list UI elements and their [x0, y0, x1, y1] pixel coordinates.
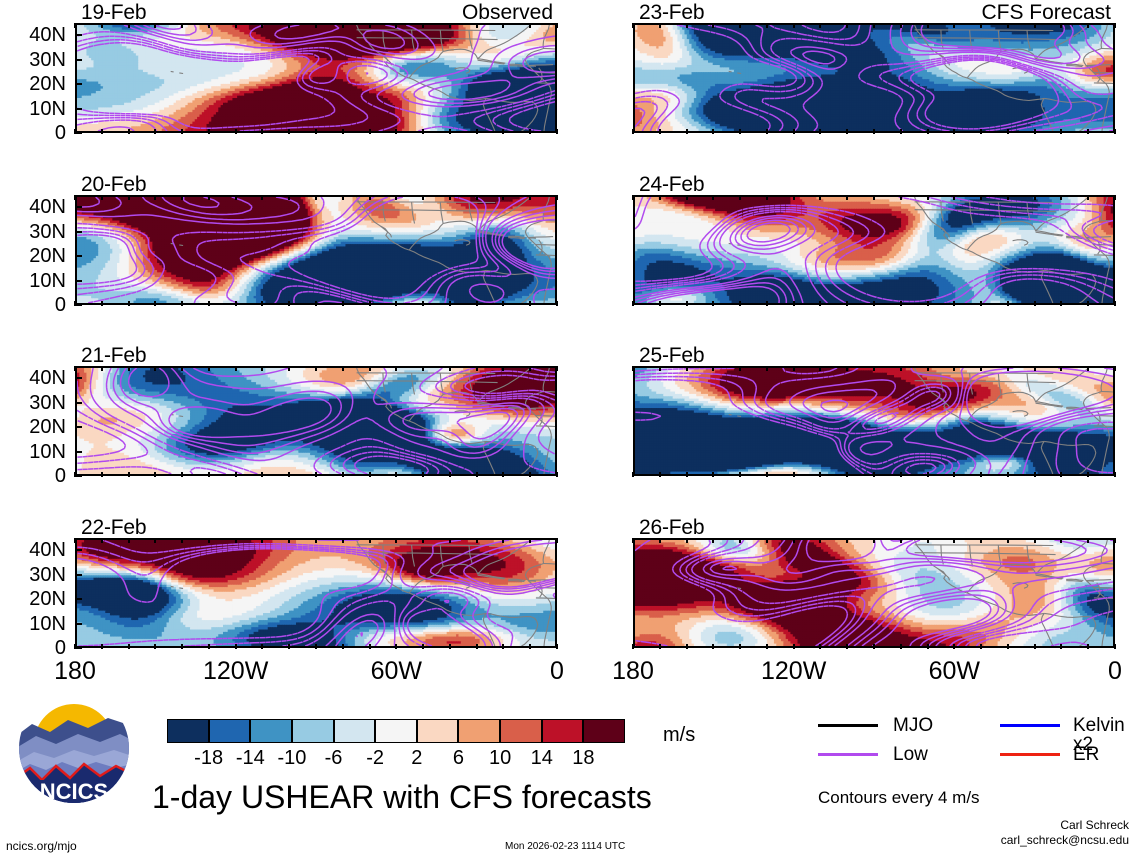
x-axis-tick-mark: [208, 195, 210, 200]
x-axis-tick-mark: [953, 195, 955, 200]
colorbar-segment: [583, 719, 625, 743]
x-axis-tick-mark: [873, 644, 875, 649]
x-axis-tick-mark: [261, 366, 263, 371]
x-axis-tick-mark: [1114, 538, 1116, 543]
x-axis-tick-mark: [261, 23, 263, 28]
x-axis-tick-mark: [980, 129, 982, 134]
x-axis-tick-mark: [476, 472, 478, 477]
author-name: Carl Schreck: [849, 818, 1129, 833]
footer-timestamp: Mon 2026-02-23 1114 UTC: [505, 842, 625, 852]
colorbar-segment: [417, 719, 459, 743]
colorbar-segment: [334, 719, 376, 743]
x-axis-tick-mark: [953, 644, 955, 649]
x-axis-tick-mark: [846, 472, 848, 477]
x-axis-tick-mark: [261, 538, 263, 543]
x-axis-tick-mark: [659, 23, 661, 28]
x-axis-tick-mark: [846, 23, 848, 28]
x-axis-tick-mark: [873, 301, 875, 306]
legend-line-swatch: [1000, 724, 1060, 727]
x-axis-tick-mark: [766, 538, 768, 543]
legend-line-swatch: [818, 724, 878, 727]
x-axis-tick-mark: [712, 23, 714, 28]
x-axis-tick-mark: [476, 644, 478, 649]
x-axis-tick-mark: [235, 472, 237, 477]
x-axis-tick-mark: [766, 472, 768, 477]
x-axis-tick-mark: [659, 472, 661, 477]
x-axis-tick-mark: [556, 301, 558, 306]
x-axis-tick-mark: [1060, 644, 1062, 649]
x-axis-tick-mark: [154, 195, 156, 200]
x-axis-tick-mark: [927, 366, 929, 371]
x-axis-tick-mark: [128, 538, 130, 543]
x-axis-tick-mark: [766, 644, 768, 649]
x-axis-tick-mark: [846, 301, 848, 306]
colorbar-tick-label: -10: [270, 748, 314, 768]
x-axis-tick-mark: [980, 23, 982, 28]
x-axis-tick-mark: [686, 23, 688, 28]
y-axis-tick-mark: [75, 108, 82, 110]
x-axis-tick-mark: [900, 129, 902, 134]
x-axis-tick-mark: [502, 538, 504, 543]
x-axis-tick-mark: [101, 366, 103, 371]
x-axis-tick-mark: [502, 23, 504, 28]
x-axis-tick-mark: [74, 129, 76, 134]
x-axis-tick-mark: [502, 195, 504, 200]
x-axis-tick-mark: [793, 129, 795, 134]
x-axis-tick-label: 120W: [176, 659, 296, 684]
x-axis-tick-mark: [927, 644, 929, 649]
colorbar-tick-label: -14: [228, 748, 272, 768]
x-axis-tick-mark: [395, 366, 397, 371]
x-axis-tick-mark: [1034, 472, 1036, 477]
y-axis-tick-mark: [75, 377, 82, 379]
colorbar-tick-label: -6: [312, 748, 356, 768]
x-axis-tick-mark: [953, 472, 955, 477]
x-axis-tick-mark: [846, 644, 848, 649]
x-axis-tick-mark: [101, 23, 103, 28]
x-axis-tick-mark: [1114, 472, 1116, 477]
colorbar-tick-label: 6: [436, 748, 480, 768]
x-axis-tick-mark: [873, 129, 875, 134]
x-axis-tick-mark: [900, 301, 902, 306]
x-axis-tick-mark: [369, 195, 371, 200]
x-axis-tick-mark: [101, 129, 103, 134]
x-axis-tick-mark: [1034, 538, 1036, 543]
colorbar-segment: [292, 719, 334, 743]
x-axis-tick-mark: [74, 472, 76, 477]
x-axis-tick-mark: [369, 644, 371, 649]
x-axis-tick-mark: [686, 301, 688, 306]
x-axis-tick-mark: [980, 366, 982, 371]
y-axis-tick-mark: [75, 549, 82, 551]
x-axis-tick-mark: [793, 644, 795, 649]
x-axis-tick-mark: [953, 301, 955, 306]
x-axis-tick-mark: [529, 195, 531, 200]
x-axis-tick-mark: [873, 23, 875, 28]
x-axis-tick-mark: [900, 366, 902, 371]
x-axis-tick-mark: [422, 366, 424, 371]
column-header-label: Observed: [75, 2, 553, 23]
x-axis-tick-mark: [529, 644, 531, 649]
x-axis-tick-mark: [1007, 472, 1009, 477]
map-panel: [75, 23, 557, 133]
x-axis-tick-mark: [819, 23, 821, 28]
x-axis-tick-mark: [953, 366, 955, 371]
x-axis-tick-mark: [659, 644, 661, 649]
x-axis-tick-mark: [1087, 538, 1089, 543]
x-axis-tick-mark: [712, 301, 714, 306]
x-axis-tick-mark: [1087, 129, 1089, 134]
ncics-logo-text: NCICS: [40, 779, 108, 804]
legend-line-swatch: [1000, 753, 1060, 756]
x-axis-tick-mark: [1007, 23, 1009, 28]
y-axis-tick-mark: [75, 304, 82, 306]
y-axis-tick-label: 40N: [0, 25, 66, 45]
x-axis-tick-mark: [288, 23, 290, 28]
x-axis-tick-mark: [846, 195, 848, 200]
x-axis-tick-mark: [74, 301, 76, 306]
map-panel: [633, 538, 1115, 648]
x-axis-tick-mark: [101, 195, 103, 200]
x-axis-tick-mark: [288, 301, 290, 306]
x-axis-tick-mark: [900, 538, 902, 543]
x-axis-tick-mark: [556, 472, 558, 477]
colorbar-units-label: m/s: [663, 725, 695, 745]
x-axis-tick-mark: [529, 472, 531, 477]
x-axis-tick-mark: [980, 538, 982, 543]
x-axis-tick-label: 120W: [734, 659, 854, 684]
y-axis-tick-label: 10N: [0, 271, 66, 291]
x-axis-tick-mark: [686, 195, 688, 200]
x-axis-tick-mark: [980, 472, 982, 477]
x-axis-tick-mark: [181, 129, 183, 134]
x-axis-tick-mark: [529, 129, 531, 134]
x-axis-tick-mark: [476, 366, 478, 371]
x-axis-tick-mark: [395, 644, 397, 649]
x-axis-tick-mark: [766, 366, 768, 371]
x-axis-tick-mark: [235, 195, 237, 200]
panel-date-label: 26-Feb: [639, 517, 704, 538]
x-axis-tick-mark: [766, 129, 768, 134]
y-axis-tick-mark: [75, 475, 82, 477]
x-axis-tick-mark: [369, 472, 371, 477]
x-axis-tick-mark: [846, 366, 848, 371]
x-axis-tick-mark: [261, 644, 263, 649]
x-axis-tick-mark: [686, 366, 688, 371]
x-axis-tick-mark: [1007, 538, 1009, 543]
y-axis-tick-mark: [75, 598, 82, 600]
x-axis-tick-mark: [449, 538, 451, 543]
x-axis-tick-mark: [502, 129, 504, 134]
x-axis-tick-mark: [953, 23, 955, 28]
x-axis-tick-mark: [154, 301, 156, 306]
x-axis-tick-mark: [927, 538, 929, 543]
x-axis-tick-mark: [154, 644, 156, 649]
x-axis-tick-mark: [422, 538, 424, 543]
x-axis-tick-mark: [315, 301, 317, 306]
x-axis-tick-mark: [1060, 366, 1062, 371]
x-axis-tick-mark: [235, 129, 237, 134]
x-axis-tick-mark: [739, 23, 741, 28]
x-axis-tick-mark: [927, 23, 929, 28]
x-axis-tick-mark: [1007, 301, 1009, 306]
y-axis-tick-mark: [75, 34, 82, 36]
y-axis-tick-label: 30N: [0, 565, 66, 585]
x-axis-tick-mark: [235, 644, 237, 649]
x-axis-tick-mark: [181, 23, 183, 28]
x-axis-tick-mark: [739, 129, 741, 134]
x-axis-tick-mark: [659, 366, 661, 371]
x-axis-tick-mark: [288, 195, 290, 200]
x-axis-tick-mark: [342, 195, 344, 200]
colorbar-tick-label: 18: [561, 748, 605, 768]
map-panel: [75, 195, 557, 305]
x-axis-tick-mark: [1007, 195, 1009, 200]
x-axis-tick-mark: [288, 129, 290, 134]
y-axis-tick-label: 10N: [0, 614, 66, 634]
x-axis-tick-label: 60W: [894, 659, 1014, 684]
y-axis-tick-label: 10N: [0, 442, 66, 462]
ncics-logo: NCICS: [16, 692, 132, 804]
x-axis-tick-mark: [659, 538, 661, 543]
x-axis-tick-mark: [74, 644, 76, 649]
x-axis-tick-mark: [1114, 644, 1116, 649]
author-email[interactable]: carl_schreck@ncsu.edu: [849, 833, 1129, 848]
legend-label: ER: [1073, 745, 1099, 764]
x-axis-tick-mark: [529, 301, 531, 306]
author-credit: Carl Schreck carl_schreck@ncsu.edu: [849, 818, 1129, 848]
y-axis-tick-label: 40N: [0, 197, 66, 217]
x-axis-tick-label: 180: [15, 659, 135, 684]
x-axis-tick-mark: [342, 472, 344, 477]
x-axis-tick-mark: [208, 366, 210, 371]
x-axis-tick-mark: [1034, 366, 1036, 371]
x-axis-tick-mark: [1114, 23, 1116, 28]
x-axis-tick-mark: [502, 644, 504, 649]
x-axis-tick-mark: [819, 195, 821, 200]
x-axis-tick-mark: [476, 538, 478, 543]
panel-date-label: 24-Feb: [639, 174, 704, 195]
x-axis-tick-mark: [181, 538, 183, 543]
map-panel: [75, 366, 557, 476]
x-axis-tick-mark: [315, 366, 317, 371]
x-axis-tick-mark: [1087, 301, 1089, 306]
x-axis-tick-mark: [529, 366, 531, 371]
x-axis-tick-mark: [766, 301, 768, 306]
x-axis-tick-mark: [261, 195, 263, 200]
x-axis-tick-mark: [154, 23, 156, 28]
x-axis-tick-mark: [1114, 366, 1116, 371]
x-axis-tick-mark: [369, 23, 371, 28]
x-axis-tick-mark: [1007, 129, 1009, 134]
x-axis-tick-mark: [476, 23, 478, 28]
x-axis-tick-mark: [632, 644, 634, 649]
x-axis-tick-mark: [793, 301, 795, 306]
x-axis-tick-mark: [739, 644, 741, 649]
x-axis-tick-mark: [181, 301, 183, 306]
x-axis-tick-mark: [1060, 23, 1062, 28]
x-axis-tick-mark: [369, 129, 371, 134]
x-axis-tick-mark: [659, 195, 661, 200]
x-axis-tick-mark: [793, 472, 795, 477]
x-axis-tick-mark: [900, 472, 902, 477]
x-axis-tick-mark: [288, 366, 290, 371]
x-axis-tick-label: 0: [1055, 659, 1135, 684]
x-axis-tick-label: 60W: [336, 659, 456, 684]
x-axis-tick-mark: [712, 366, 714, 371]
colorbar-segment: [250, 719, 292, 743]
x-axis-tick-mark: [632, 195, 634, 200]
x-axis-tick-mark: [261, 129, 263, 134]
x-axis-tick-mark: [819, 644, 821, 649]
x-axis-tick-mark: [556, 366, 558, 371]
x-axis-tick-mark: [422, 23, 424, 28]
y-axis-tick-mark: [75, 426, 82, 428]
x-axis-tick-mark: [395, 23, 397, 28]
x-axis-tick-mark: [819, 472, 821, 477]
x-axis-tick-mark: [369, 366, 371, 371]
x-axis-tick-mark: [502, 472, 504, 477]
x-axis-tick-mark: [395, 301, 397, 306]
x-axis-tick-mark: [1034, 129, 1036, 134]
x-axis-tick-mark: [712, 129, 714, 134]
x-axis-tick-mark: [686, 472, 688, 477]
x-axis-tick-mark: [556, 23, 558, 28]
x-axis-tick-mark: [235, 366, 237, 371]
x-axis-tick-mark: [128, 301, 130, 306]
colorbar-tick-label: -18: [187, 748, 231, 768]
x-axis-tick-mark: [632, 129, 634, 134]
x-axis-tick-mark: [128, 23, 130, 28]
x-axis-tick-mark: [315, 472, 317, 477]
x-axis-tick-mark: [101, 644, 103, 649]
x-axis-tick-mark: [1114, 195, 1116, 200]
y-axis-tick-label: 20N: [0, 589, 66, 609]
x-axis-tick-mark: [953, 538, 955, 543]
y-axis-tick-mark: [75, 574, 82, 576]
x-axis-tick-mark: [128, 366, 130, 371]
x-axis-tick-mark: [793, 195, 795, 200]
map-panel: [633, 195, 1115, 305]
x-axis-tick-mark: [449, 195, 451, 200]
x-axis-tick-mark: [208, 644, 210, 649]
x-axis-tick-mark: [181, 472, 183, 477]
x-axis-tick-mark: [739, 195, 741, 200]
x-axis-tick-mark: [422, 644, 424, 649]
panel-date-label: 25-Feb: [639, 345, 704, 366]
x-axis-tick-mark: [208, 129, 210, 134]
y-axis-tick-mark: [75, 451, 82, 453]
x-axis-tick-mark: [502, 366, 504, 371]
colorbar-segment: [167, 719, 209, 743]
x-axis-tick-mark: [712, 195, 714, 200]
x-axis-tick-mark: [235, 301, 237, 306]
x-axis-tick-mark: [261, 472, 263, 477]
x-axis-tick-mark: [1034, 644, 1036, 649]
x-axis-tick-mark: [659, 129, 661, 134]
x-axis-tick-mark: [1087, 23, 1089, 28]
y-axis-tick-label: 40N: [0, 540, 66, 560]
x-axis-tick-mark: [208, 301, 210, 306]
y-axis-tick-mark: [75, 647, 82, 649]
x-axis-tick-mark: [369, 301, 371, 306]
x-axis-tick-mark: [395, 538, 397, 543]
x-axis-tick-mark: [235, 538, 237, 543]
x-axis-tick-mark: [686, 129, 688, 134]
x-axis-tick-mark: [766, 195, 768, 200]
x-axis-tick-mark: [980, 301, 982, 306]
x-axis-tick-mark: [1060, 538, 1062, 543]
x-axis-tick-mark: [342, 538, 344, 543]
x-axis-tick-mark: [154, 129, 156, 134]
x-axis-tick-mark: [449, 23, 451, 28]
x-axis-tick-mark: [1087, 366, 1089, 371]
x-axis-tick-mark: [1114, 301, 1116, 306]
y-axis-tick-mark: [75, 59, 82, 61]
x-axis-tick-mark: [739, 366, 741, 371]
panel-date-label: 22-Feb: [81, 517, 146, 538]
y-axis-tick-label: 0: [0, 295, 66, 315]
x-axis-tick-mark: [449, 644, 451, 649]
y-axis-tick-mark: [75, 255, 82, 257]
panel-date-label: 20-Feb: [81, 174, 146, 195]
x-axis-tick-mark: [1060, 195, 1062, 200]
x-axis-tick-mark: [315, 23, 317, 28]
x-axis-tick-mark: [927, 195, 929, 200]
x-axis-tick-mark: [1087, 644, 1089, 649]
footer-website[interactable]: ncics.org/mjo: [6, 840, 77, 852]
colorbar-segment: [458, 719, 500, 743]
x-axis-tick-mark: [315, 538, 317, 543]
y-axis-tick-label: 0: [0, 638, 66, 658]
ncics-logo-graphic: NCICS: [16, 692, 132, 804]
x-axis-tick-mark: [74, 538, 76, 543]
x-axis-tick-mark: [686, 538, 688, 543]
x-axis-tick-mark: [712, 538, 714, 543]
x-axis-tick-mark: [395, 472, 397, 477]
x-axis-tick-mark: [686, 644, 688, 649]
y-axis-tick-mark: [75, 623, 82, 625]
figure-title: 1-day USHEAR with CFS forecasts: [152, 781, 652, 813]
x-axis-tick-mark: [873, 366, 875, 371]
x-axis-tick-mark: [766, 23, 768, 28]
x-axis-tick-mark: [1034, 195, 1036, 200]
x-axis-tick-mark: [128, 472, 130, 477]
x-axis-tick-mark: [502, 301, 504, 306]
x-axis-tick-mark: [927, 129, 929, 134]
x-axis-tick-mark: [342, 129, 344, 134]
x-axis-tick-mark: [819, 129, 821, 134]
colorbar: [167, 719, 625, 743]
x-axis-tick-mark: [235, 23, 237, 28]
x-axis-tick-mark: [900, 23, 902, 28]
x-axis-tick-mark: [632, 23, 634, 28]
x-axis-tick-mark: [369, 538, 371, 543]
x-axis-tick-mark: [395, 195, 397, 200]
x-axis-tick-mark: [556, 538, 558, 543]
x-axis-tick-mark: [449, 129, 451, 134]
x-axis-tick-mark: [342, 644, 344, 649]
colorbar-tick-label: 14: [520, 748, 564, 768]
y-axis-tick-label: 40N: [0, 368, 66, 388]
x-axis-tick-mark: [476, 301, 478, 306]
x-axis-tick-mark: [154, 472, 156, 477]
x-axis-tick-mark: [449, 301, 451, 306]
legend-line-swatch: [818, 753, 878, 756]
x-axis-tick-mark: [1114, 129, 1116, 134]
y-axis-tick-mark: [75, 280, 82, 282]
map-panel: [75, 538, 557, 648]
